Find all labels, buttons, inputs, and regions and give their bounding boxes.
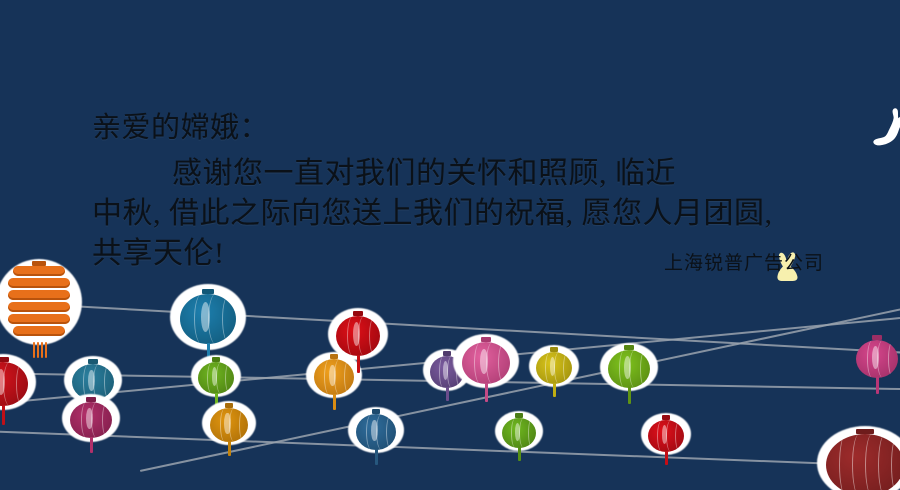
lantern-body [356,414,396,450]
lantern-rib [640,350,651,388]
lantern-body [856,340,898,378]
lantern-rib [675,420,684,452]
lantern-yellow [536,348,572,414]
lantern-tassel-strand [41,342,43,358]
lantern-rib-band [8,314,70,324]
lantern-tassel [2,405,5,425]
lantern-highlight [329,365,335,387]
lantern-body [608,350,650,388]
lantern-body [462,342,510,384]
lantern-rib [208,294,223,344]
lantern-rib [222,294,236,344]
lantern-body [826,434,900,490]
lantern-highlight [480,349,488,374]
lantern-rib [528,418,537,448]
mid-autumn-greeting-slide: 亲爱的嫦娥： 感谢您一直对我们的关怀和照顾, 临近 中秋, 借此之际向您送上我们… [0,0,900,490]
lantern-tassel [553,383,556,397]
lantern-rib [225,362,234,394]
lantern-tassel-strand [33,342,35,358]
lantern-red-left-edge [0,358,28,436]
lantern-pink-right-edge [856,336,898,408]
company-signature: 上海锐普广告公司 [664,248,824,275]
lantern-rib [104,364,115,400]
lantern-body [536,352,572,384]
lantern-rib [229,408,240,442]
lantern-tassel [333,394,336,410]
lantern-rib [498,342,510,384]
lantern-tassel [518,447,521,461]
lantern-rib [369,316,380,356]
lantern-body [180,294,236,344]
lantern-rib [878,434,892,490]
lantern-steelblue-low [356,410,396,480]
lantern-green-mid [608,346,650,418]
lantern-rib [386,414,396,450]
lantern-rib-band [8,278,70,288]
lantern-tassel-strand [45,342,47,358]
lantern-red-low [648,416,684,482]
lantern-rib [91,402,103,438]
lantern-body [70,402,112,438]
lantern-rib [852,434,866,490]
lantern-tassel [375,449,378,465]
lantern-rib [839,434,853,490]
leaping-rabbit-icon [862,102,900,163]
lantern-tassel [228,441,231,456]
greeting-line-2: 中秋, 借此之际向您送上我们的祝福, 愿您人月团圆, [0,194,830,234]
lantern-body [502,418,536,448]
lantern-tassel [446,387,449,401]
lantern-highlight [88,370,95,392]
lantern-body [0,362,28,406]
wire-cross2 [0,430,900,469]
lantern-tassel [665,451,668,465]
lantern-green-low [502,414,536,478]
lantern-highlight [353,322,360,346]
lantern-red-round [336,312,380,386]
lantern-highlight [86,408,93,430]
lantern-rib [891,434,900,490]
lantern-rib [865,434,879,490]
lantern-body [8,266,70,342]
greeting-salutation: 亲爱的嫦娥： [0,108,830,148]
lantern-rib [239,408,249,442]
lantern-tassel-strand [37,342,39,358]
lantern-highlight [872,346,879,369]
lantern-darkred-large [826,430,900,490]
lantern-highlight [624,356,631,379]
signature-row: 上海锐普广告公司 [0,248,830,275]
lantern-tassel [628,387,631,404]
lantern-tassel [357,355,360,373]
lantern-rib-band [13,326,65,336]
lantern-body [648,420,684,452]
lantern-tassel [90,437,93,453]
lantern-rib [3,362,17,406]
lantern-body [210,408,248,442]
lantern-rib [563,352,572,384]
lantern-rib [16,362,29,406]
lantern-body [336,316,380,356]
lantern-highlight [371,420,377,442]
greeting-line-1: 感谢您一直对我们的关怀和照顾, 临近 [0,154,830,194]
lantern-rib-band [8,302,70,312]
lantern-tassel [485,383,488,402]
lantern-magenta [70,398,112,468]
lantern-orange-large [8,262,70,372]
lantern-rib [629,350,641,388]
lantern-rib [102,402,113,438]
lantern-orange-low [210,404,248,472]
lantern-rib [888,340,899,378]
lantern-tassel [876,377,879,394]
lantern-highlight [224,413,230,433]
lantern-rib [877,340,889,378]
lantern-rib-band [8,290,70,300]
lantern-pink [462,338,510,414]
wire-upper [0,300,900,355]
lantern-body [198,362,234,394]
